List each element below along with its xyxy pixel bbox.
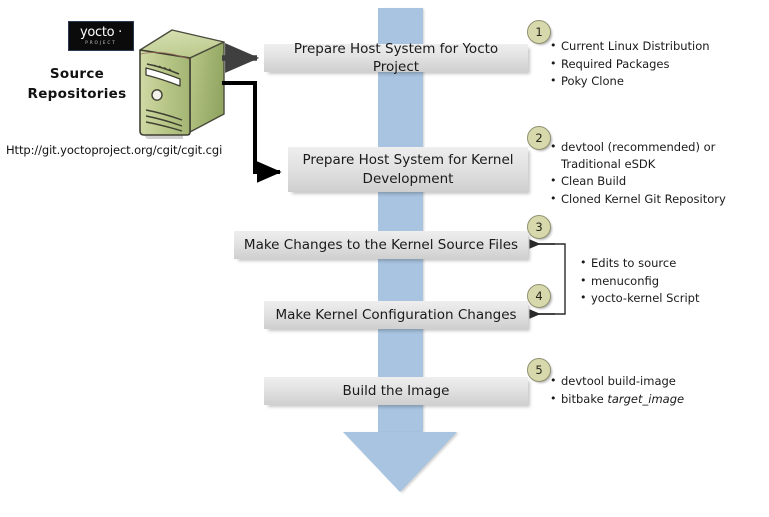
step-2-notes: devtool (recommended) or Traditional eSD… xyxy=(548,139,760,209)
process-box-label-line2: Development xyxy=(363,171,454,187)
source-label-line1: Source xyxy=(14,64,140,84)
note-item: Current Linux Distribution xyxy=(561,38,764,55)
note-item: Edits to source xyxy=(591,255,758,272)
yocto-project-logo: yocto · PROJECT xyxy=(68,21,134,51)
process-box-label: Make Kernel Configuration Changes xyxy=(275,306,516,324)
step-badge-3: 3 xyxy=(527,215,551,239)
logo-subtext: PROJECT xyxy=(85,41,116,45)
process-box-label-line1: Prepare Host System for Kernel xyxy=(302,152,513,168)
source-repositories-label: Source Repositories xyxy=(14,64,140,105)
flow-spine-arrowhead xyxy=(343,432,457,492)
step-badge-4: 4 xyxy=(527,284,551,308)
logo-wordmark: yocto · xyxy=(80,26,122,39)
note-item: devtool (recommended) or Traditional eSD… xyxy=(561,139,760,172)
note-item: Poky Clone xyxy=(561,73,764,90)
process-box-make-config-changes[interactable]: Make Kernel Configuration Changes xyxy=(264,301,528,329)
process-box-build-image[interactable]: Build the Image xyxy=(264,377,528,405)
step-number: 2 xyxy=(535,131,542,145)
note-item: menuconfig xyxy=(591,273,758,290)
note-bitbake-argument: target_image xyxy=(607,392,684,406)
note-item: devtool build-image xyxy=(561,373,758,390)
process-box-label: Prepare Host System for Kernel Developme… xyxy=(302,151,513,187)
diagram-canvas: yocto · PROJECT Source Repositories Http… xyxy=(0,0,769,517)
note-item: Cloned Kernel Git Repository xyxy=(561,191,760,208)
process-box-prepare-host-kernel[interactable]: Prepare Host System for Kernel Developme… xyxy=(288,147,528,192)
step-number: 4 xyxy=(535,289,542,303)
step-1-notes: Current Linux Distribution Required Pack… xyxy=(548,38,764,91)
server-tower-icon xyxy=(132,28,228,140)
step-number: 5 xyxy=(535,363,542,377)
step-number: 3 xyxy=(535,220,542,234)
source-repository-url: Http://git.yoctoproject.org/cgit/cgit.cg… xyxy=(6,143,222,157)
process-box-label: Prepare Host System for Yocto Project xyxy=(272,40,520,76)
steps-3-and-4-shared-notes: Edits to source menuconfig yocto-kernel … xyxy=(578,255,758,308)
note-item: Required Packages xyxy=(561,56,764,73)
note-bitbake-command: bitbake xyxy=(561,392,607,406)
source-label-line2: Repositories xyxy=(14,84,140,104)
process-box-label: Make Changes to the Kernel Source Files xyxy=(244,236,518,254)
note-item: Clean Build xyxy=(561,173,760,190)
process-box-label: Build the Image xyxy=(343,382,450,400)
process-box-make-source-changes[interactable]: Make Changes to the Kernel Source Files xyxy=(234,231,528,259)
process-box-prepare-host-yocto[interactable]: Prepare Host System for Yocto Project xyxy=(264,44,528,72)
step-5-notes: devtool build-image bitbake target_image xyxy=(548,373,758,408)
step-number: 1 xyxy=(535,25,542,39)
note-item-bitbake: bitbake target_image xyxy=(561,391,758,408)
note-item: yocto-kernel Script xyxy=(591,290,758,307)
